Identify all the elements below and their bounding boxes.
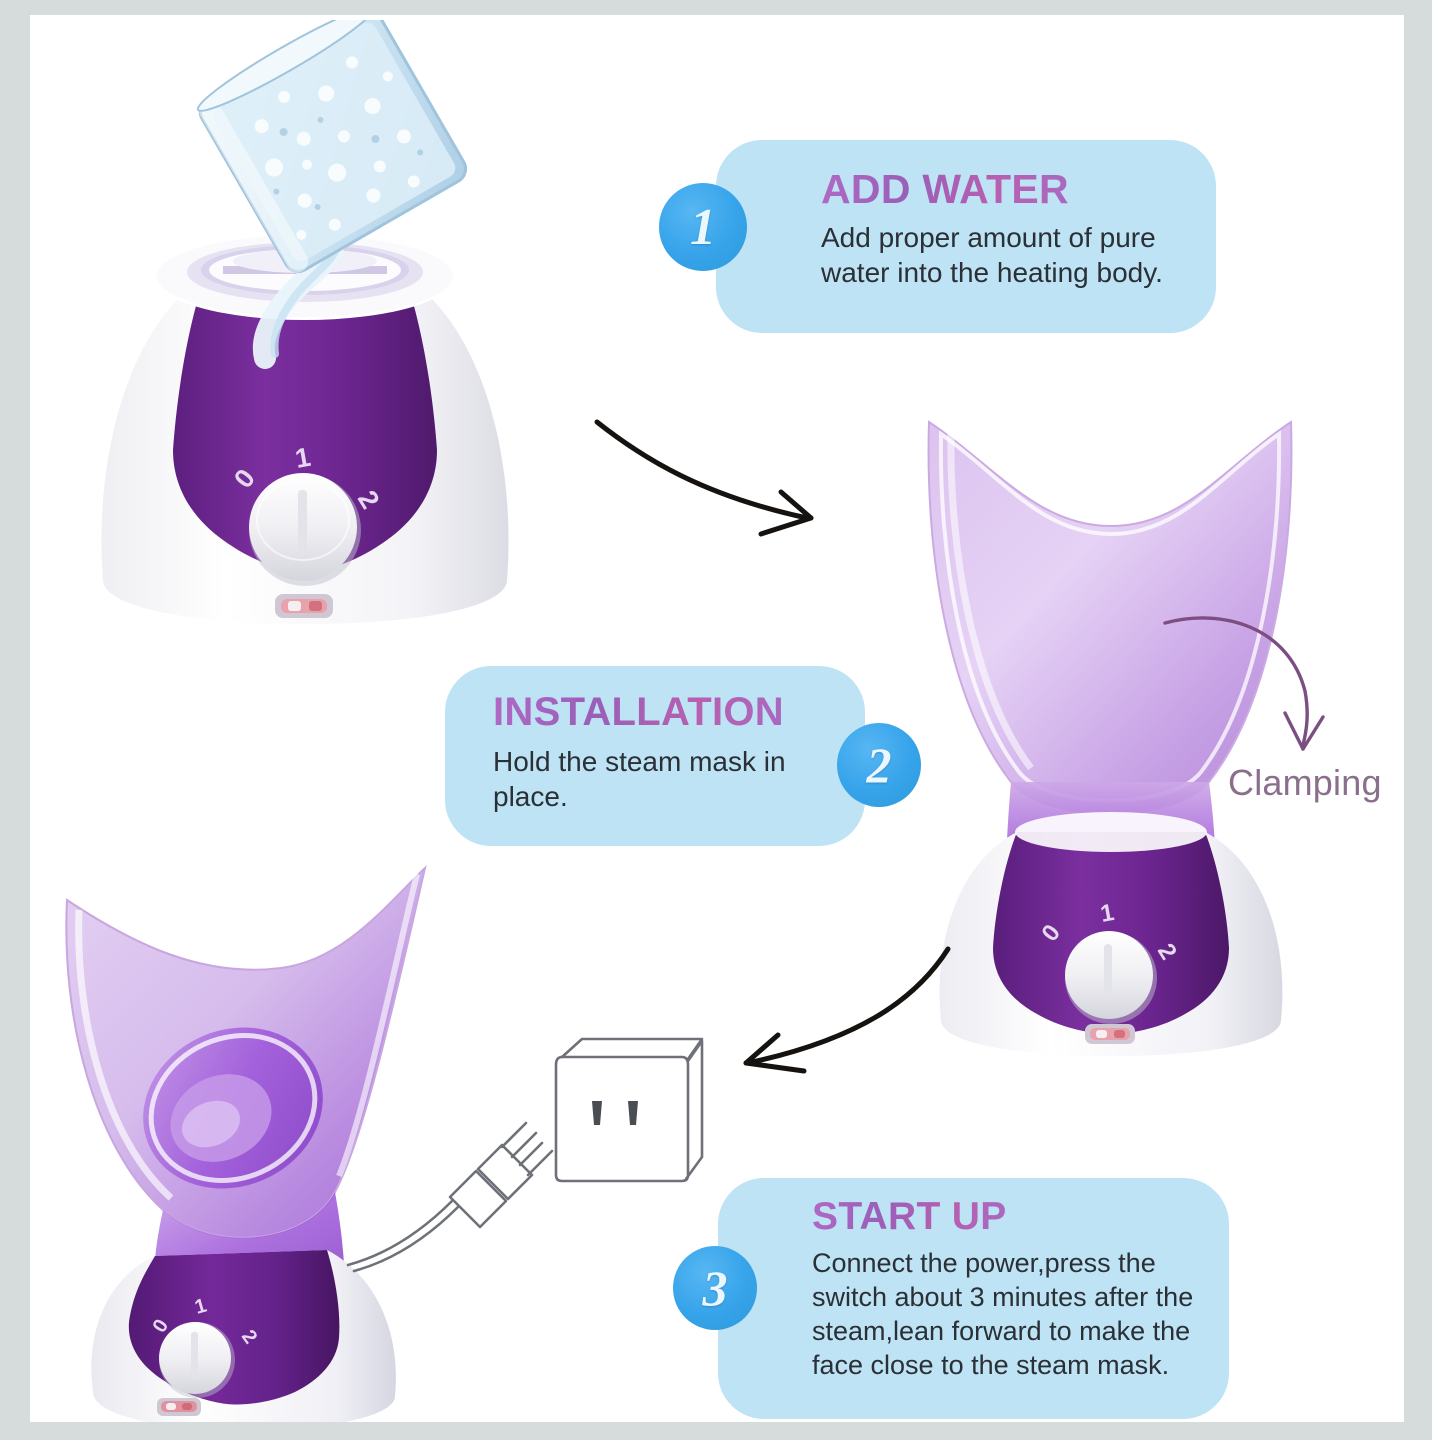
- step-1-bubble: ADD WATER Add proper amount of pure wate…: [716, 140, 1216, 333]
- power-plug-socket-sketch: [330, 1015, 750, 1375]
- plug-prong-1: [502, 1123, 526, 1147]
- flow-arrow-right: [585, 410, 865, 560]
- step-3-body: Connect the power,press the switch about…: [812, 1246, 1222, 1382]
- wall-socket: [556, 1057, 688, 1181]
- clamping-label: Clamping: [1228, 762, 1382, 804]
- flow-arrow-left: [720, 935, 1000, 1105]
- power-cord: [348, 1201, 452, 1265]
- water-glass: [191, 20, 471, 277]
- control-knob-3: [159, 1322, 235, 1398]
- infographic-canvas: 0 1 2: [30, 15, 1404, 1422]
- plug-body: [450, 1171, 506, 1227]
- power-indicator-2: [1085, 1024, 1135, 1044]
- power-indicator-3: [157, 1398, 201, 1416]
- step-1-badge: 1: [659, 183, 747, 271]
- step-1-body: Add proper amount of pure water into the…: [821, 220, 1211, 291]
- clamping-arrow: [1155, 595, 1375, 775]
- step-2-title: INSTALLATION: [493, 691, 784, 733]
- step-2-bubble: INSTALLATION Hold the steam mask in plac…: [445, 666, 865, 846]
- power-indicator: [275, 594, 333, 618]
- step-3-badge: 3: [673, 1246, 757, 1330]
- socket-slots: [592, 1101, 638, 1125]
- step-3-bubble: START UP Connect the power,press the swi…: [718, 1178, 1229, 1419]
- step-3-title: START UP: [812, 1197, 1007, 1238]
- step-2-badge: 2: [837, 723, 921, 807]
- product-image-heating-base: 0 1 2: [85, 20, 525, 640]
- step-2-body: Hold the steam mask in place.: [493, 744, 823, 815]
- step-1-title: ADD WATER: [821, 168, 1069, 211]
